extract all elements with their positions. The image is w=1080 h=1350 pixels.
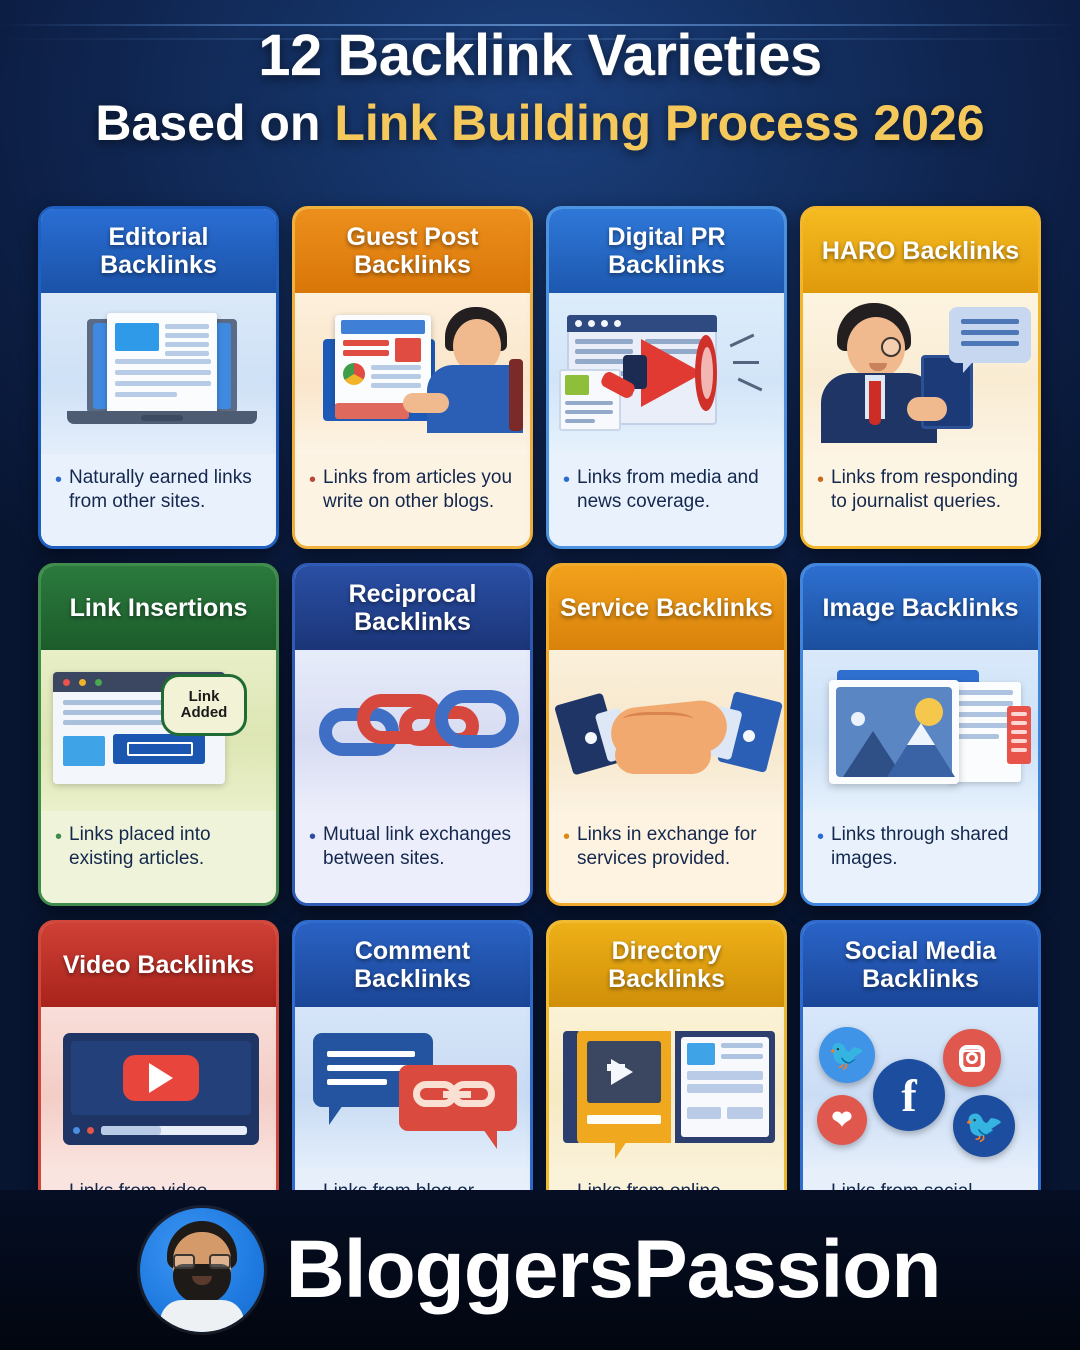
card-description-text: Mutual link exchanges between sites. [323,823,516,887]
card-title: HARO Backlinks [822,237,1019,265]
bullet-icon: • [563,827,570,887]
bullet-icon: • [817,470,824,530]
journalist-tablet-icon [803,293,1038,454]
card-title: Video Backlinks [63,951,254,979]
subtitle-prefix: Based on [95,95,334,151]
backlink-card-grid: Editorial Backlinks • Naturally earned l… [38,206,1042,1263]
card-header: Guest Post Backlinks [295,209,530,293]
card-description-text: Links in exchange for services provided. [577,823,770,887]
card-description: • Mutual link exchanges between sites. [295,811,530,903]
card-title: Digital PR Backlinks [557,223,776,279]
bullet-icon: • [55,470,62,530]
card-header: Image Backlinks [803,566,1038,650]
backlink-card[interactable]: Service Backlinks • Links in exchange fo… [546,563,787,906]
card-header: Editorial Backlinks [41,209,276,293]
card-header: Reciprocal Backlinks [295,566,530,650]
photo-gallery-icon [803,650,1038,811]
card-description: • Links placed into existing articles. [41,811,276,903]
card-title: Image Backlinks [823,594,1019,622]
card-description: • Links through shared images. [803,811,1038,903]
page-title: 12 Backlink Varieties [0,26,1080,87]
chat-bubbles-link-icon [295,1007,530,1168]
avatar [140,1208,264,1332]
card-title: Social Media Backlinks [811,937,1030,993]
megaphone-news-icon [549,293,784,454]
header: 12 Backlink Varieties Based on Link Buil… [0,26,1080,149]
writer-at-laptop-icon [295,293,530,454]
card-header: HARO Backlinks [803,209,1038,293]
card-description-text: Links placed into existing articles. [69,823,262,887]
avatar-glasses-left [173,1254,195,1269]
card-description: • Naturally earned links from other site… [41,454,276,546]
card-title: Editorial Backlinks [49,223,268,279]
social-network-icons: 🐦 ❤ f ▢ 🐦 [803,1007,1038,1168]
card-description-text: Links from responding to journalist quer… [831,466,1024,530]
bullet-icon: • [817,827,824,887]
bullet-icon: • [309,827,316,887]
card-header: Directory Backlinks [549,923,784,1007]
card-header: Comment Backlinks [295,923,530,1007]
video-player-icon [41,1007,276,1168]
card-title: Reciprocal Backlinks [303,580,522,636]
backlink-card[interactable]: Reciprocal Backlinks • Mutual link excha… [292,563,533,906]
bullet-icon: • [309,470,316,530]
footer-branding: BloggersPassion [0,1190,1080,1350]
card-description-text: Links through shared images. [831,823,1024,887]
card-description-text: Naturally earned links from other sites. [69,466,262,530]
bullet-icon: • [563,470,570,530]
subtitle-accent: Link Building Process 2026 [334,95,984,151]
card-description-text: Links from media and news coverage. [577,466,770,530]
handshake-icon [549,650,784,811]
card-description: • Links from media and news coverage. [549,454,784,546]
card-title: Directory Backlinks [557,937,776,993]
card-header: Link Insertions [41,566,276,650]
card-title: Link Insertions [70,594,248,622]
card-header: Social Media Backlinks [803,923,1038,1007]
card-title: Service Backlinks [560,594,773,622]
link-added-browser-icon: LinkAdded [41,650,276,811]
card-description-text: Links from articles you write on other b… [323,466,516,530]
backlink-card[interactable]: Editorial Backlinks • Naturally earned l… [38,206,279,549]
card-header: Service Backlinks [549,566,784,650]
card-header: Video Backlinks [41,923,276,1007]
card-description: • Links from responding to journalist qu… [803,454,1038,546]
directory-book-icon [549,1007,784,1168]
bullet-icon: • [55,827,62,887]
chain-links-icon [295,650,530,811]
avatar-shirt [160,1300,244,1332]
card-description: • Links in exchange for services provide… [549,811,784,903]
avatar-glasses-right [209,1254,231,1269]
backlink-card[interactable]: Link Insertions LinkAdded • Links placed… [38,563,279,906]
backlink-card[interactable]: Digital PR Backlinks • Links from media … [546,206,787,549]
card-header: Digital PR Backlinks [549,209,784,293]
backlink-card[interactable]: Guest Post Backlinks • Links from articl… [292,206,533,549]
laptop-article-icon [41,293,276,454]
backlink-card[interactable]: Image Backlinks • Links through shared i… [800,563,1041,906]
brand-name: BloggersPassion [286,1229,941,1311]
page-subtitle: Based on Link Building Process 2026 [0,97,1080,150]
backlink-card[interactable]: HARO Backlinks • Links from responding t… [800,206,1041,549]
card-description: • Links from articles you write on other… [295,454,530,546]
card-title: Comment Backlinks [303,937,522,993]
card-title: Guest Post Backlinks [303,223,522,279]
